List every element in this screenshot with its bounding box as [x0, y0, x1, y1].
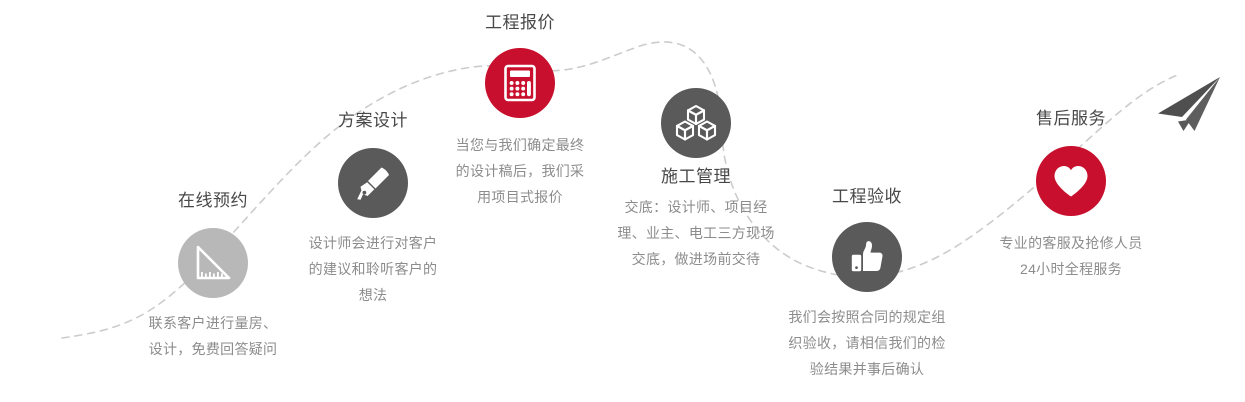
- flow-step-5-description: 我们会按照合同的规定组织验收，请相信我们的检验结果并事后确认: [784, 304, 950, 382]
- paper-plane-icon: [1148, 74, 1238, 144]
- flow-step-6-icon-wrap: [988, 146, 1154, 216]
- thumbs-up-icon[interactable]: [832, 222, 902, 292]
- flow-step-6-title: 售后服务: [988, 108, 1154, 130]
- flow-step-1-title: 在线预约: [128, 190, 298, 212]
- flow-step-5[interactable]: 工程验收 我们会按照合同的规定组织验收，请相信我们的检验结果并事后确认: [778, 186, 956, 382]
- flow-step-3-title: 工程报价: [443, 12, 597, 34]
- flow-step-1-icon-wrap: [128, 228, 298, 298]
- flow-step-3-icon-wrap: [443, 48, 597, 118]
- flow-step-2-description: 设计师会进行对客户的建议和聆听客户的想法: [303, 230, 443, 308]
- heart-icon[interactable]: [1036, 146, 1106, 216]
- flow-step-5-title: 工程验收: [778, 186, 956, 208]
- flow-step-4-description: 交底：设计师、项目经理、业主、电工三方现场交底，做进场前交待: [611, 194, 781, 272]
- flow-step-3-description: 当您与我们确定最终的设计稿后，我们采用项目式报价: [452, 132, 588, 210]
- flow-step-6[interactable]: 售后服务 专业的客服及抢修人员24小时全程服务: [988, 108, 1154, 282]
- service-process-flow: 在线预约 联系客户进行量房、设计，免费回答疑问 方案设计: [0, 0, 1245, 402]
- flow-step-3[interactable]: 工程报价: [443, 12, 597, 210]
- flow-step-4[interactable]: 施工管理 交底：设计师、项目经理、业主、电工三方现场交底，做进场前交待: [608, 88, 784, 272]
- flow-step-2-title: 方案设计: [288, 110, 458, 132]
- fountain-pen-icon[interactable]: [338, 148, 408, 218]
- calculator-icon[interactable]: [485, 48, 555, 118]
- flow-step-5-icon-wrap: [778, 222, 956, 292]
- flow-step-4-icon-wrap: [608, 88, 784, 158]
- flow-step-6-description: 专业的客服及抢修人员24小时全程服务: [995, 230, 1147, 282]
- flow-step-1-description: 联系客户进行量房、设计，免费回答疑问: [146, 310, 280, 362]
- flow-step-2[interactable]: 方案设计 设计师会进行对客户的建议和聆听客户的想法: [288, 110, 458, 308]
- blocks-cubes-icon[interactable]: [661, 88, 731, 158]
- flow-step-4-title: 施工管理: [608, 166, 784, 188]
- flow-step-1[interactable]: 在线预约 联系客户进行量房、设计，免费回答疑问: [128, 190, 298, 362]
- ruler-triangle-icon[interactable]: [178, 228, 248, 298]
- flow-step-2-icon-wrap: [288, 148, 458, 218]
